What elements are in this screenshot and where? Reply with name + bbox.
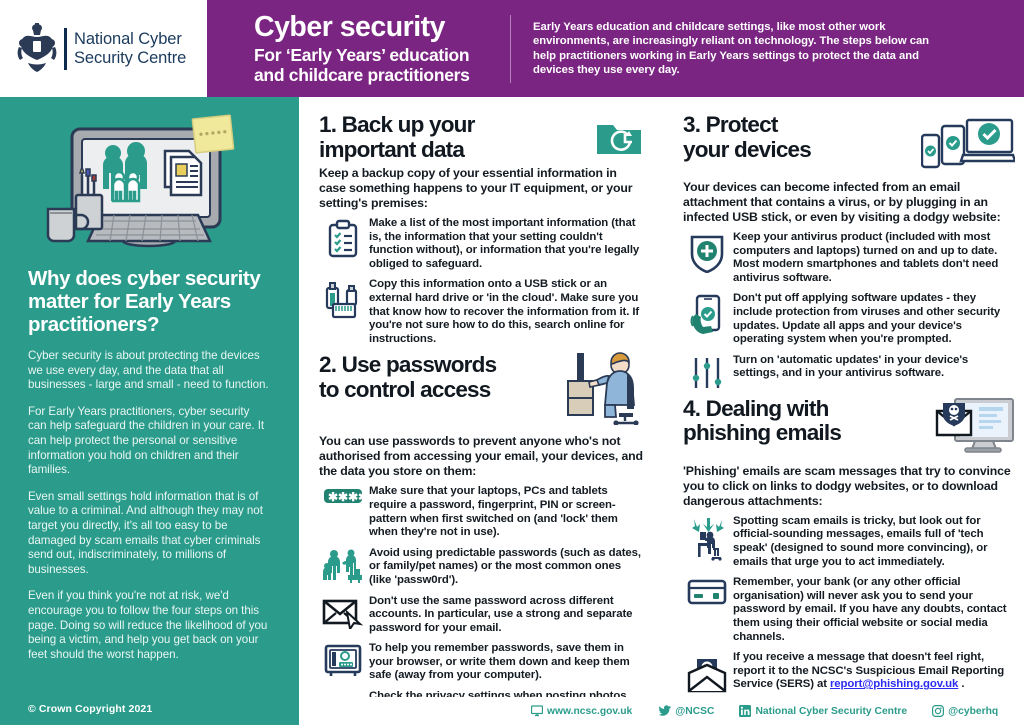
section-header: 3. Protect your devices — [683, 113, 1015, 176]
list-item-text: Spotting scam emails is tricky, but look… — [731, 515, 1015, 569]
shield-with-plus-antivirus-icon — [683, 231, 731, 273]
section-intro: Your devices can become infected from an… — [683, 180, 1015, 225]
footer-item-label: @cyberhq — [948, 706, 998, 717]
svg-text:✱✱✱✱: ✱✱✱✱ — [328, 490, 363, 504]
section-title: 4. Dealing with phishing emails — [683, 397, 931, 446]
hand-holding-phone-with-tick-icon — [683, 292, 731, 338]
linkedin-icon — [739, 705, 751, 717]
section-header: 4. Dealing with phishing emails — [683, 397, 1015, 460]
section-dealing-with-phishing-emails: 4. Dealing with phishing emails — [683, 397, 1015, 693]
person-at-desk-with-computer-illustration — [557, 357, 643, 430]
footer-item-linkedin[interactable]: National Cyber Security Centre — [739, 705, 907, 717]
logo-line-2: Security Centre — [74, 49, 186, 67]
section-title-line-2: phishing emails — [683, 420, 841, 445]
page-title: Cyber security — [254, 12, 500, 43]
bank-card-icon — [683, 576, 731, 606]
logo-wordmark: National Cyber Security Centre — [74, 30, 186, 68]
list-item: Don't use the same password across diffe… — [319, 595, 643, 636]
section-intro: 'Phishing' emails are scam messages that… — [683, 464, 1015, 509]
footer-item-label: National Cyber Security Centre — [755, 706, 907, 717]
list-item: To help you remember passwords, save the… — [319, 642, 643, 683]
open-envelope-with-skull-icon — [683, 651, 731, 693]
list-item: Spotting scam emails is tricky, but look… — [683, 515, 1015, 569]
footer-item-label: www.ncsc.gov.uk — [547, 706, 632, 717]
list-item: Don't put off applying software updates … — [683, 292, 1015, 346]
infographic-page: National Cyber Security Centre Cyber sec… — [0, 0, 1024, 725]
list-item-text: Don't use the same password across diffe… — [367, 595, 643, 636]
content-columns: 1. Back up your important data — [299, 97, 1024, 725]
footer-item-label: @NCSC — [675, 706, 714, 717]
logo-line-1: National Cyber — [74, 30, 182, 48]
list-item-text: Keep your antivirus product (included wi… — [731, 231, 1015, 285]
report-phishing-email-link[interactable]: report@phishing.gov.uk — [830, 678, 958, 690]
section-back-up-your-important-data: 1. Back up your important data — [319, 113, 643, 346]
list-item: If you receive a message that doesn't fe… — [683, 651, 1015, 693]
sidebar-heading: Why does cyber security matter for Early… — [28, 267, 269, 336]
list-item: Keep your antivirus product (included wi… — [683, 231, 1015, 285]
section-intro: Keep a backup copy of your essential inf… — [319, 166, 643, 211]
section-protect-your-devices: 3. Protect your devices — [683, 113, 1015, 390]
section-title-line-1: 1. Back up your — [319, 112, 475, 137]
column-right: 3. Protect your devices — [661, 97, 1023, 725]
section-bullets: Spotting scam emails is tricky, but look… — [683, 515, 1015, 693]
list-item-text-after: . — [958, 678, 964, 690]
ncsc-logo: National Cyber Security Centre — [0, 0, 207, 97]
list-item-text: Remember, your bank (or any other offici… — [731, 576, 1015, 644]
section-intro: You can use passwords to prevent anyone … — [319, 434, 643, 479]
header-banner: Cyber security For ‘Early Years’ educati… — [207, 0, 1024, 97]
list-item-text: Avoid using predictable passwords (such … — [367, 547, 643, 588]
list-item-text: Copy this information onto a USB stick o… — [367, 278, 643, 346]
footer-item-instagram[interactable]: @cyberhq — [932, 705, 998, 717]
list-item: Make a list of the most important inform… — [319, 217, 643, 271]
section-use-passwords-to-control-access: 2. Use passwords to control access — [319, 353, 643, 725]
section-title-line-1: 4. Dealing with — [683, 396, 829, 421]
safe-vault-icon — [319, 642, 367, 678]
header-intro-text: Early Years education and childcare sett… — [511, 20, 966, 77]
monitor-with-phishing-email-skull-icon — [935, 401, 1015, 460]
settings-sliders-icon — [683, 354, 731, 390]
section-bullets: Keep your antivirus product (included wi… — [683, 231, 1015, 390]
section-title-line-1: 2. Use passwords — [319, 352, 496, 377]
list-item: Avoid using predictable passwords (such … — [319, 547, 643, 588]
sidebar-paragraph: Cyber security is about protecting the d… — [28, 349, 269, 393]
section-title: 2. Use passwords to control access — [319, 353, 553, 402]
section-header: 2. Use passwords to control access — [319, 353, 643, 430]
section-title-line-1: 3. Protect — [683, 112, 778, 137]
list-item-text: Turn on 'automatic updates' in your devi… — [731, 354, 1015, 381]
list-item-text: Don't put off applying software updates … — [731, 292, 1015, 346]
footer-social-bar: www.ncsc.gov.uk @NCSC National Cyber Sec… — [299, 697, 1024, 725]
password-field-asterisks-icon: ✱✱✱✱ — [319, 485, 367, 505]
list-item-text: Make sure that your laptops, PCs and tab… — [367, 485, 643, 539]
family-with-pet-icon — [319, 547, 367, 583]
copyright-notice: © Crown Copyright 2021 — [28, 703, 152, 715]
column-left: 1. Back up your important data — [299, 97, 661, 725]
section-title-line-2: to control access — [319, 377, 490, 402]
envelope-with-cursor-icon — [319, 595, 367, 629]
section-title: 1. Back up your important data — [319, 113, 591, 162]
sidebar-hero-illustration-wrap — [0, 97, 299, 259]
section-title-line-2: important data — [319, 137, 464, 162]
footer-item-website[interactable]: www.ncsc.gov.uk — [531, 705, 632, 717]
sidebar-paragraph: Even if you think you're not at risk, we… — [28, 589, 269, 662]
monitor-icon — [531, 705, 543, 717]
desktop-computer-with-family-and-document-illustration — [18, 103, 280, 259]
list-item: ✱✱✱✱ Make sure that your laptops, PCs an… — [319, 485, 643, 539]
sidebar-body: Why does cyber security matter for Early… — [0, 259, 299, 662]
section-title-line-2: your devices — [683, 137, 811, 162]
sidebar-paragraph: Even small settings hold information tha… — [28, 490, 269, 578]
section-bullets: ✱✱✱✱ Make sure that your laptops, PCs an… — [319, 485, 643, 725]
page-header: National Cyber Security Centre Cyber sec… — [0, 0, 1024, 97]
list-item: Turn on 'automatic updates' in your devi… — [683, 354, 1015, 390]
list-item-text: To help you remember passwords, save the… — [367, 642, 643, 683]
phone-tablet-laptop-with-ticks-icon — [921, 117, 1015, 176]
clipboard-checklist-icon — [319, 217, 367, 259]
page-subtitle: For ‘Early Years’ education and childcar… — [254, 45, 500, 86]
list-item: Remember, your bank (or any other offici… — [683, 576, 1015, 644]
sidebar: Why does cyber security matter for Early… — [0, 97, 299, 725]
section-title: 3. Protect your devices — [683, 113, 917, 162]
footer-item-twitter[interactable]: @NCSC — [657, 705, 714, 717]
logo-divider — [64, 28, 67, 70]
section-bullets: Make a list of the most important inform… — [319, 217, 643, 346]
royal-crest-icon — [14, 21, 60, 77]
usb-sticks-and-hard-drive-icon — [319, 278, 367, 320]
list-item: Copy this information onto a USB stick o… — [319, 278, 643, 346]
page-subtitle-line-2: and childcare practitioners — [254, 65, 470, 85]
twitter-bird-icon — [657, 705, 671, 717]
sidebar-paragraph: For Early Years practitioners, cyber sec… — [28, 405, 269, 478]
list-item-text: If you receive a message that doesn't fe… — [731, 651, 1015, 692]
instagram-icon — [932, 705, 944, 717]
folder-with-clock-backup-icon — [595, 117, 643, 162]
section-header: 1. Back up your important data — [319, 113, 643, 162]
person-at-desk-with-arrows-icon — [683, 515, 731, 561]
header-title-block: Cyber security For ‘Early Years’ educati… — [207, 12, 500, 86]
list-item-text: Make a list of the most important inform… — [367, 217, 643, 271]
page-subtitle-line-1: For ‘Early Years’ education — [254, 45, 469, 65]
